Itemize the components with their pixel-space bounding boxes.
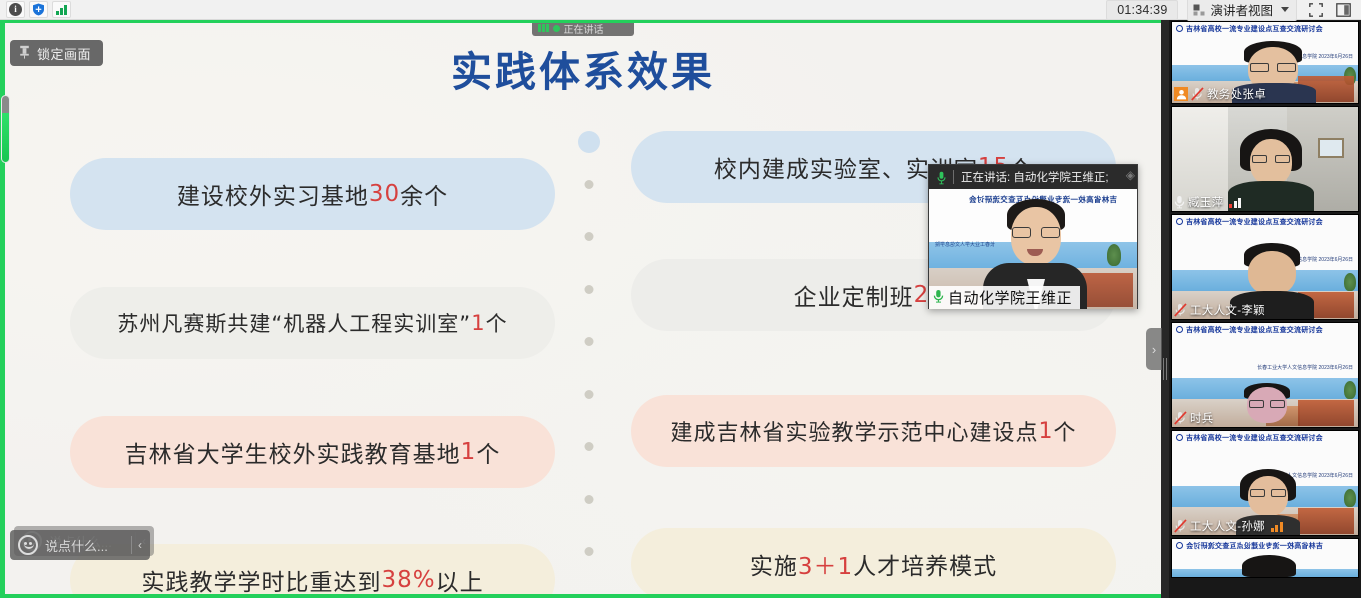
speaking-dot-icon — [553, 25, 560, 32]
host-icon — [1174, 87, 1188, 101]
pill-number: 1 — [1039, 419, 1054, 444]
participant-name-badge: 工大人文-李颖 — [1172, 301, 1270, 319]
pill-number: 38% — [381, 567, 435, 593]
lock-screen-button[interactable]: 锁定画面 — [10, 40, 103, 66]
speaker-status-label: 正在讲话: 自动化学院王维正; — [961, 169, 1109, 185]
slide-pill-right-4: 实施3＋1人才培养模式 — [631, 528, 1116, 594]
speaker-bg-subtext: 长春工业大学人文信息学院 — [935, 242, 995, 250]
pill-suffix: 人才培养模式 — [853, 547, 997, 581]
tile-banner-right: 长春工业大学人文信息学院 2023年6月26日 — [1257, 365, 1353, 373]
header-separator — [953, 170, 954, 184]
split-view-button[interactable] — [1334, 1, 1353, 18]
participant-tile[interactable]: 吉林省高校一流专业建设点互查交流研讨会 — [1171, 538, 1359, 578]
mic-off-icon — [1174, 519, 1187, 533]
meeting-window: i 01:34:39 — [0, 0, 1361, 598]
speaker-video: 吉林省高校一流专业建设点互查交流研讨会 长春工业大学人文信息学院 — [929, 189, 1137, 309]
chat-placeholder[interactable]: 说点什么... — [45, 536, 125, 555]
participant-name-badge: 工大人文-孙娜 — [1172, 517, 1288, 535]
pill-text: 建成吉林省实验教学示范中心建设点 — [670, 415, 1038, 447]
tile-banner-label: 吉林省高校一流专业建设点互查交流研讨会 — [1186, 217, 1323, 227]
signal-glyph — [56, 4, 67, 15]
participant-name-label: 工大人文-李颖 — [1190, 302, 1265, 318]
participant-tile[interactable]: 吉林省高校一流专业建设点互查交流研讨会 长春工业大学人文信息学院 2023年6月… — [1171, 322, 1359, 428]
toolbar-right-controls: 01:34:39 演讲者视图 — [1106, 0, 1361, 21]
spine-dot — [585, 232, 594, 241]
split-view-icon — [1336, 3, 1351, 17]
participant-strip[interactable]: 吉林省高校一流专业建设点互查交流研讨会 长春工业大学人文信息学院 2023年6月… — [1169, 20, 1361, 598]
tile-banner-label: 吉林省高校一流专业建设点互查交流研讨会 — [1186, 433, 1323, 443]
participant-name-badge: 时兵 — [1172, 409, 1219, 427]
pill-text: 建设校外实习基地 — [177, 177, 369, 211]
participant-tile[interactable]: 吉林省高校一流专业建设点互查交流研讨会 长春工业大学人文信息学院 2023年6月… — [1171, 430, 1359, 536]
speaker-name-label: 自动化学院王维正 — [948, 287, 1072, 308]
drag-handle-icon[interactable]: ◈ — [1126, 168, 1135, 182]
fullscreen-icon — [1309, 3, 1323, 17]
mic-off-icon — [1191, 87, 1204, 101]
audio-level-icon — [1229, 197, 1241, 208]
spine-dot — [585, 180, 594, 189]
panel-divider[interactable] — [1161, 20, 1169, 598]
spine-dot — [585, 390, 594, 399]
slide-pill-right-3: 建成吉林省实验教学示范中心建设点 1 个 — [631, 395, 1116, 467]
sidebar-slider-handle[interactable] — [1, 95, 10, 163]
chevron-right-icon: › — [1152, 342, 1156, 357]
tile-banner-label: 吉林省高校一流专业建设点互查交流研讨会 — [1186, 541, 1323, 551]
emoji-icon[interactable] — [18, 535, 38, 555]
mic-off-icon — [1174, 411, 1187, 425]
participant-tile[interactable]: 臧玉萍 — [1171, 106, 1359, 212]
spine-dot — [578, 131, 600, 153]
mic-on-icon — [1174, 195, 1185, 209]
audio-level-icon — [1271, 521, 1283, 532]
pill-text: 实施 — [750, 547, 798, 581]
slide-pill-left-1: 建设校外实习基地30余个 — [70, 158, 555, 230]
participant-name-badge: 教务处张卓 — [1172, 85, 1271, 103]
share-border-bottom — [0, 594, 1161, 598]
collapse-panel-button[interactable]: › — [1146, 328, 1162, 370]
pill-text: 苏州凡赛斯共建“机器人工程实训室” — [117, 308, 471, 338]
pin-icon — [19, 45, 30, 62]
toolbar-left-icons: i — [0, 1, 71, 18]
fullscreen-button[interactable] — [1306, 1, 1325, 18]
tile-banner: 吉林省高校一流专业建设点互查交流研讨会 — [1172, 215, 1358, 228]
tile-banner-label: 吉林省高校一流专业建设点互查交流研讨会 — [1186, 24, 1323, 34]
chevron-left-icon[interactable]: ‹ — [138, 538, 150, 552]
spine-dot — [585, 442, 594, 451]
mic-off-icon — [1174, 303, 1187, 317]
participant-name-label: 臧玉萍 — [1188, 194, 1223, 210]
pill-text: 企业定制班 — [794, 278, 914, 312]
pill-number: 30 — [369, 181, 400, 207]
participant-name-label: 教务处张卓 — [1207, 86, 1266, 102]
mic-on-icon — [933, 289, 944, 307]
active-speaker-overlay[interactable]: 正在讲话: 自动化学院王维正; ◈ 吉林省高校一流专业建设点互查交流研讨会 长春… — [928, 164, 1138, 309]
tile-banner: 吉林省高校一流专业建设点互查交流研讨会 — [1172, 22, 1358, 35]
view-mode-dropdown[interactable]: 演讲者视图 — [1187, 0, 1297, 21]
slide-title: 实践体系效果 — [5, 38, 1161, 98]
participant-name-badge: 臧玉萍 — [1172, 193, 1246, 211]
speaker-name-badge: 自动化学院王维正 — [929, 286, 1080, 309]
pill-suffix: 余个 — [400, 177, 448, 211]
pill-text: 实践教学学时比重达到 — [141, 563, 381, 594]
participant-name-label: 时兵 — [1190, 410, 1214, 426]
pill-number: 1 — [461, 439, 477, 465]
signal-bars-icon[interactable] — [52, 1, 71, 18]
shield-plus-icon[interactable] — [29, 1, 48, 18]
spine-dot — [585, 285, 594, 294]
pill-text: 吉林省大学生校外实践教育基地 — [125, 435, 461, 469]
view-mode-label: 演讲者视图 — [1210, 0, 1273, 19]
chat-input[interactable]: 说点什么... ‹ — [10, 530, 150, 560]
pill-number: 2 — [914, 282, 930, 308]
pill-suffix: 个 — [476, 435, 500, 469]
participant-figure — [1234, 553, 1304, 577]
participant-figure — [1240, 383, 1294, 427]
participant-name-label: 工大人文-孙娜 — [1190, 518, 1265, 534]
audio-level-icon — [538, 24, 549, 32]
info-icon[interactable]: i — [6, 1, 25, 18]
pill-suffix: 个 — [486, 308, 508, 338]
info-glyph: i — [9, 3, 22, 16]
top-toolbar: i 01:34:39 — [0, 0, 1361, 20]
slide-dot-spine — [576, 131, 602, 594]
chevron-down-icon — [1281, 7, 1289, 12]
meeting-timer: 01:34:39 — [1106, 0, 1178, 20]
slide-pill-left-3: 吉林省大学生校外实践教育基地1个 — [70, 416, 555, 488]
divider-grip-icon — [1163, 358, 1167, 380]
share-border-top — [0, 20, 1161, 23]
pill-number: 1 — [471, 311, 485, 335]
slide-pill-left-2: 苏州凡赛斯共建“机器人工程实训室” 1个 — [70, 287, 555, 359]
lock-screen-label: 锁定画面 — [37, 44, 91, 63]
shield-glyph — [32, 3, 45, 16]
tile-banner: 吉林省高校一流专业建设点互查交流研讨会 — [1172, 539, 1358, 552]
mic-on-icon — [937, 171, 946, 184]
spine-dot — [585, 495, 594, 504]
speaker-view-icon — [1193, 4, 1205, 16]
tile-banner: 吉林省高校一流专业建设点互查交流研讨会 — [1172, 323, 1358, 336]
pill-suffix: 以上 — [436, 563, 484, 594]
tile-banner-label: 吉林省高校一流专业建设点互查交流研讨会 — [1186, 325, 1323, 335]
participant-tile[interactable]: 吉林省高校一流专业建设点互查交流研讨会 长春工业大学人文信息学院 2023年6月… — [1171, 214, 1359, 320]
spine-dot — [585, 547, 594, 556]
tile-banner: 吉林省高校一流专业建设点互查交流研讨会 — [1172, 431, 1358, 444]
spine-dot — [585, 337, 594, 346]
speaker-overlay-header: 正在讲话: 自动化学院王维正; ◈ — [929, 165, 1137, 189]
pill-suffix: 个 — [1054, 415, 1077, 447]
participant-tile[interactable]: 吉林省高校一流专业建设点互查交流研讨会 长春工业大学人文信息学院 2023年6月… — [1171, 21, 1359, 104]
pill-number: 3＋1 — [798, 547, 853, 581]
